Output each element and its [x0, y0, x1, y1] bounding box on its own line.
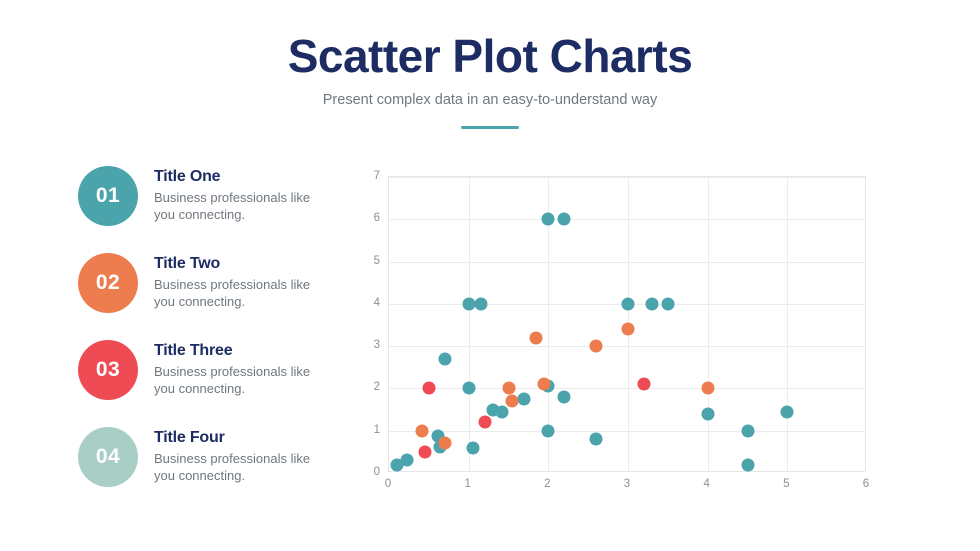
scatter-point-teal[interactable] [474, 297, 487, 310]
legend-title-03: Title Three [154, 342, 329, 360]
gridline-vertical [787, 177, 788, 471]
scatter-point-orange[interactable] [506, 395, 519, 408]
x-axis-tick-4: 4 [687, 478, 727, 490]
gridline-horizontal [389, 388, 865, 389]
scatter-point-teal[interactable] [466, 441, 479, 454]
scatter-point-orange[interactable] [590, 340, 603, 353]
y-axis-tick-7: 7 [340, 170, 380, 182]
scatter-point-orange[interactable] [622, 323, 635, 336]
scatter-point-red[interactable] [422, 382, 435, 395]
gridline-horizontal [389, 431, 865, 432]
scatter-point-orange[interactable] [438, 437, 451, 450]
scatter-point-teal[interactable] [542, 213, 555, 226]
y-axis-tick-1: 1 [340, 424, 380, 436]
page-subtitle: Present complex data in an easy-to-under… [0, 92, 980, 108]
legend-item-04[interactable]: 04Title FourBusiness professionals like … [78, 427, 328, 514]
legend-item-01[interactable]: 01Title OneBusiness professionals like y… [78, 166, 328, 253]
scatter-point-teal[interactable] [558, 390, 571, 403]
scatter-point-red[interactable] [478, 416, 491, 429]
plot-area [388, 176, 866, 472]
x-axis-tick-0: 0 [368, 478, 408, 490]
scatter-point-teal[interactable] [400, 454, 413, 467]
x-axis-tick-1: 1 [448, 478, 488, 490]
scatter-point-teal[interactable] [542, 424, 555, 437]
accent-divider [461, 126, 519, 129]
legend-desc-03: Business professionals like you connecti… [154, 363, 329, 397]
scatter-point-teal[interactable] [438, 352, 451, 365]
page-title: Scatter Plot Charts [0, 32, 980, 80]
scatter-chart: 012345670123456 [388, 176, 866, 472]
gridline-vertical [469, 177, 470, 471]
legend-item-02[interactable]: 02Title TwoBusiness professionals like y… [78, 253, 328, 340]
y-axis-tick-5: 5 [340, 255, 380, 267]
legend-desc-01: Business professionals like you connecti… [154, 189, 329, 223]
scatter-point-teal[interactable] [558, 213, 571, 226]
scatter-point-teal[interactable] [590, 433, 603, 446]
gridline-horizontal [389, 219, 865, 220]
scatter-point-teal[interactable] [518, 393, 531, 406]
scatter-point-teal[interactable] [661, 297, 674, 310]
y-axis-tick-4: 4 [340, 297, 380, 309]
scatter-point-orange[interactable] [502, 382, 515, 395]
slide-root: Scatter Plot Charts Present complex data… [0, 0, 980, 551]
scatter-point-orange[interactable] [530, 331, 543, 344]
legend-text-03: Title ThreeBusiness professionals like y… [154, 342, 329, 397]
legend-title-04: Title Four [154, 429, 329, 447]
scatter-point-teal[interactable] [741, 424, 754, 437]
legend-title-02: Title Two [154, 255, 329, 273]
scatter-point-teal[interactable] [622, 297, 635, 310]
legend-desc-04: Business professionals like you connecti… [154, 450, 329, 484]
legend-badge-01: 01 [78, 166, 138, 226]
scatter-point-teal[interactable] [645, 297, 658, 310]
scatter-point-orange[interactable] [416, 424, 429, 437]
legend-desc-02: Business professionals like you connecti… [154, 276, 329, 310]
y-axis-tick-3: 3 [340, 339, 380, 351]
y-axis-tick-0: 0 [340, 466, 380, 478]
scatter-point-teal[interactable] [781, 405, 794, 418]
scatter-point-red[interactable] [637, 378, 650, 391]
gridline-vertical [708, 177, 709, 471]
x-axis-tick-3: 3 [607, 478, 647, 490]
slide-header: Scatter Plot Charts Present complex data… [0, 32, 980, 108]
legend-item-03[interactable]: 03Title ThreeBusiness professionals like… [78, 340, 328, 427]
gridline-horizontal [389, 177, 865, 178]
legend-title-01: Title One [154, 168, 329, 186]
scatter-point-orange[interactable] [701, 382, 714, 395]
legend-list: 01Title OneBusiness professionals like y… [78, 166, 328, 514]
scatter-point-teal[interactable] [741, 458, 754, 471]
legend-badge-03: 03 [78, 340, 138, 400]
legend-text-02: Title TwoBusiness professionals like you… [154, 255, 329, 310]
scatter-point-teal[interactable] [496, 405, 509, 418]
scatter-point-orange[interactable] [538, 378, 551, 391]
gridline-horizontal [389, 262, 865, 263]
y-axis-tick-2: 2 [340, 381, 380, 393]
x-axis-tick-2: 2 [527, 478, 567, 490]
x-axis-tick-5: 5 [766, 478, 806, 490]
legend-text-04: Title FourBusiness professionals like yo… [154, 429, 329, 484]
legend-text-01: Title OneBusiness professionals like you… [154, 168, 329, 223]
scatter-point-red[interactable] [418, 445, 431, 458]
gridline-horizontal [389, 346, 865, 347]
scatter-point-teal[interactable] [462, 382, 475, 395]
scatter-point-teal[interactable] [701, 407, 714, 420]
y-axis-tick-6: 6 [340, 212, 380, 224]
legend-badge-04: 04 [78, 427, 138, 487]
x-axis-tick-6: 6 [846, 478, 886, 490]
legend-badge-02: 02 [78, 253, 138, 313]
